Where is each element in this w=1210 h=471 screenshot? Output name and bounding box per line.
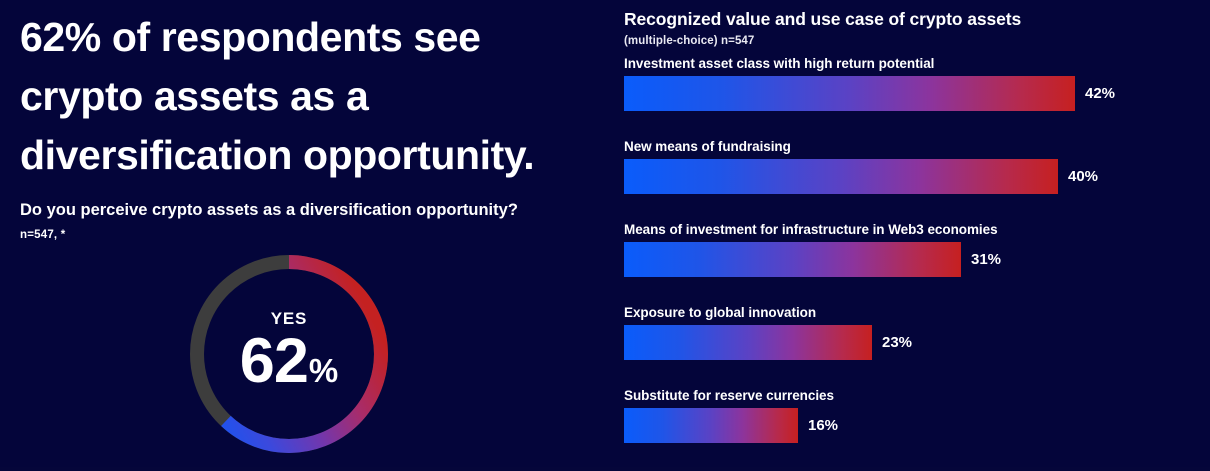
bar-track bbox=[624, 408, 798, 443]
donut-question: Do you perceive crypto assets as a diver… bbox=[20, 199, 520, 247]
bar-value: 40% bbox=[1068, 159, 1098, 194]
donut-center-labels: YES 62 % bbox=[190, 255, 388, 453]
bar-label: Substitute for reserve currencies bbox=[624, 388, 834, 403]
donut-chart: YES 62 % bbox=[190, 255, 388, 453]
infographic-page: 62% of respondents see crypto assets as … bbox=[0, 0, 1210, 467]
bar-row: Exposure to global innovation 23% bbox=[620, 305, 1210, 388]
bar-value: 16% bbox=[808, 408, 838, 443]
bar-track bbox=[624, 159, 1058, 194]
donut-sample-size: n=547, * bbox=[20, 229, 65, 241]
bar-value: 31% bbox=[971, 242, 1001, 277]
donut-value-number: 62 bbox=[240, 330, 308, 393]
bar-label: Means of investment for infrastructure i… bbox=[624, 222, 998, 237]
bar-row: Substitute for reserve currencies 16% bbox=[620, 388, 1210, 471]
bar-fill bbox=[624, 242, 961, 277]
bar-fill bbox=[624, 159, 1058, 194]
bar-track bbox=[624, 76, 1075, 111]
bar-row: Means of investment for infrastructure i… bbox=[620, 222, 1210, 305]
bar-chart: Investment asset class with high return … bbox=[620, 56, 1210, 471]
donut-value: 62 % bbox=[240, 330, 338, 393]
bar-fill bbox=[624, 325, 872, 360]
left-panel: 62% of respondents see crypto assets as … bbox=[0, 0, 610, 467]
donut-value-symbol: % bbox=[309, 354, 338, 387]
bar-track bbox=[624, 325, 872, 360]
page-headline: 62% of respondents see crypto assets as … bbox=[20, 8, 600, 185]
bar-label: Investment asset class with high return … bbox=[624, 56, 934, 71]
donut-question-text: Do you perceive crypto assets as a diver… bbox=[20, 201, 518, 219]
bar-chart-subtitle: (multiple-choice) n=547 bbox=[624, 35, 754, 47]
bar-track bbox=[624, 242, 961, 277]
bar-row: New means of fundraising 40% bbox=[620, 139, 1210, 222]
bar-label: Exposure to global innovation bbox=[624, 305, 816, 320]
bar-fill bbox=[624, 76, 1075, 111]
bar-fill bbox=[624, 408, 798, 443]
bar-value: 42% bbox=[1085, 76, 1115, 111]
right-panel: Recognized value and use case of crypto … bbox=[620, 0, 1210, 467]
bar-label: New means of fundraising bbox=[624, 139, 791, 154]
bar-value: 23% bbox=[882, 325, 912, 360]
bar-chart-title: Recognized value and use case of crypto … bbox=[624, 9, 1021, 30]
bar-row: Investment asset class with high return … bbox=[620, 56, 1210, 139]
